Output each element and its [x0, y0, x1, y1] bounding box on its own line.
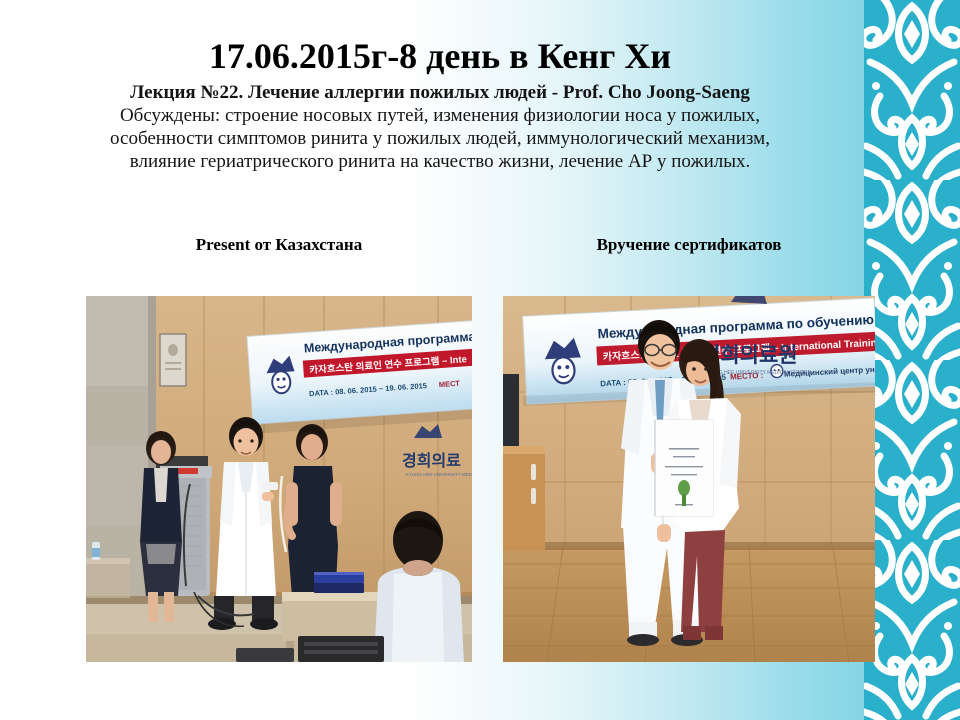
photo-certificate-award: Международная программа по обучению в об…: [503, 296, 875, 662]
svg-text:МЕСТ: МЕСТ: [438, 379, 460, 389]
page-title: 17.06.2015г-8 день в Кенг Хи: [0, 34, 880, 78]
subtitle-line-3: особенности симптомов ринита у пожилых л…: [0, 127, 880, 150]
photo-caption-right: Вручение сертификатов: [503, 235, 875, 255]
photo-caption-left: Present от Казахстана: [86, 235, 472, 255]
photo-present-from-kazakhstan: Международная программа по об 카자흐스탄 의료인 …: [86, 296, 472, 662]
presentation-slide: 17.06.2015г-8 день в Кенг Хи Лекция №22.…: [0, 0, 960, 720]
slide-header: 17.06.2015г-8 день в Кенг Хи Лекция №22.…: [0, 34, 880, 173]
subtitle-line-4: влияние гериатрического ринита на качест…: [0, 150, 880, 173]
photo-left-image: Международная программа по об 카자흐스탄 의료인 …: [86, 296, 472, 662]
svg-text:경희의료: 경희의료: [402, 452, 461, 470]
photo-right-image: Международная программа по обучению в об…: [503, 296, 875, 662]
subtitle-line-2: Обсуждены: строение носовых путей, измен…: [0, 104, 880, 127]
subtitle-line-1: Лекция №22. Лечение аллергии пожилых люд…: [0, 81, 880, 104]
svg-text:KYUNG HEE UNIVERSITY MEDICAL C: KYUNG HEE UNIVERSITY MEDICAL CENTER: [406, 472, 472, 477]
svg-text:KYUNG HEE UNIVERSITY MEDICAL C: KYUNG HEE UNIVERSITY MEDICAL CENTER: [705, 370, 812, 376]
